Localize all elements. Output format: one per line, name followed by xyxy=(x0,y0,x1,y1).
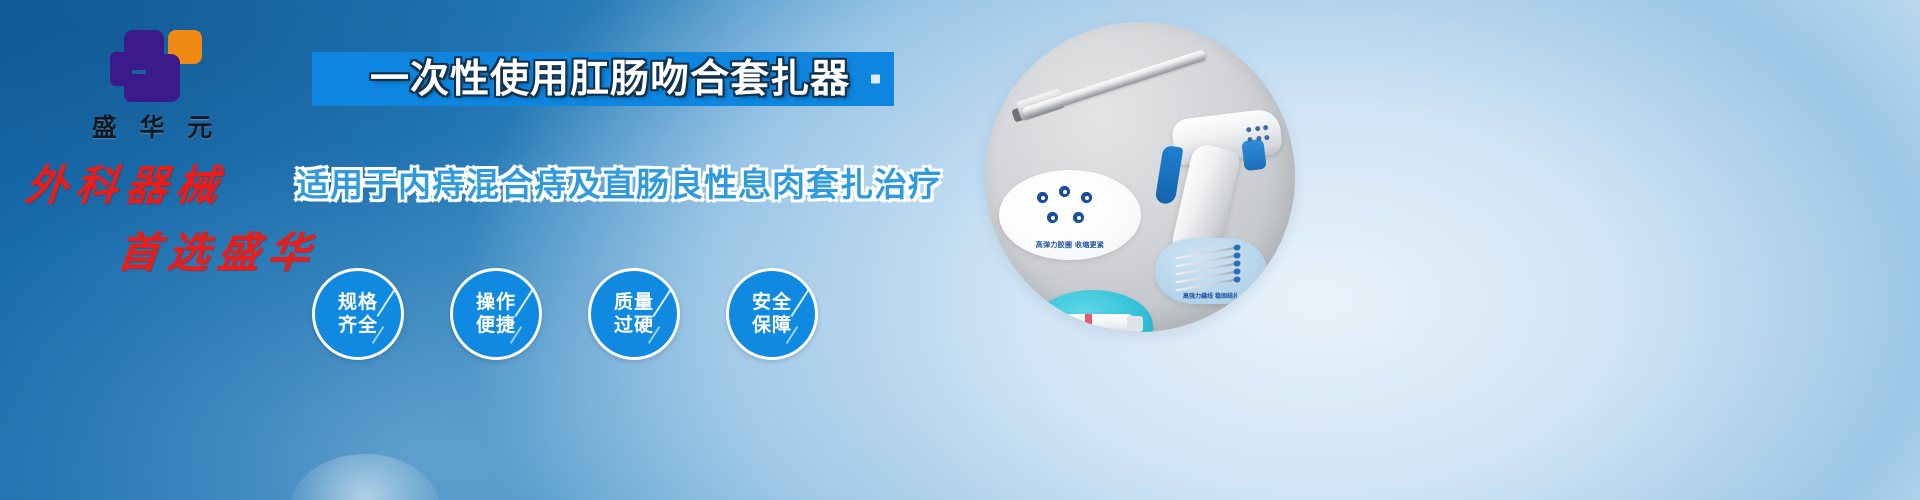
feature-badge-1[interactable]: 规格 齐全 xyxy=(312,268,404,360)
feature-badge-4[interactable]: 安全 保障 xyxy=(726,268,818,360)
feature-badge-2-line1: 操作 xyxy=(476,291,516,314)
product-photo: 高弹力胶圈 收缩更紧 高强力缝线 稳固结扎 xyxy=(985,22,1295,332)
elastic-ring-icon xyxy=(1059,186,1070,197)
inset-elastic-rings: 高弹力胶圈 收缩更紧 xyxy=(999,170,1141,260)
feature-badge-4-line2: 保障 xyxy=(752,314,792,337)
tube-tip-icon xyxy=(1127,316,1143,332)
tube-body-icon xyxy=(1055,314,1133,332)
feature-badge-1-line2: 齐全 xyxy=(338,314,378,337)
elastic-ring-icon xyxy=(1037,192,1048,203)
inset-rings-caption: 高弹力胶圈 收缩更紧 xyxy=(999,240,1141,250)
slash-decoration-icon xyxy=(376,289,395,317)
inset-needles-caption: 高强力缝线 稳固结扎 xyxy=(1155,291,1267,300)
background-orb xyxy=(290,454,440,500)
device-shaft-icon xyxy=(1021,49,1207,119)
inset-disposable-tube xyxy=(1033,290,1153,332)
page-subtitle: 适用于内痔混合痔及直肠良性息肉套扎治疗 xyxy=(296,158,896,206)
slash-decoration-icon xyxy=(514,289,533,317)
feature-badge-3[interactable]: 质量 过硬 xyxy=(588,268,680,360)
feature-badge-1-line1: 规格 xyxy=(338,291,378,314)
feature-badge-3-line2: 过硬 xyxy=(614,314,654,337)
feature-badge-2-line2: 便捷 xyxy=(476,314,516,337)
logo-blocks-icon xyxy=(102,26,202,104)
feature-badges: 规格 齐全 操作 便捷 质量 过硬 安全 保障 xyxy=(312,268,818,360)
brand-logo[interactable]: 盛 华 元 xyxy=(62,26,242,144)
device-vent-dots-icon xyxy=(1246,125,1272,146)
tube-band-icon xyxy=(1085,314,1092,332)
feature-badge-2[interactable]: 操作 便捷 xyxy=(450,268,542,360)
device-trigger-icon xyxy=(1155,145,1184,205)
slash-decoration-icon xyxy=(790,289,809,317)
slash-decoration-icon xyxy=(652,289,671,317)
promo-banner: 盛 华 元 外科器械 首选盛华 一次性使用肛肠吻合套扎器 适用于内痔混合痔及直肠… xyxy=(0,0,1920,500)
elastic-ring-icon xyxy=(1081,192,1092,203)
elastic-ring-icon xyxy=(1073,212,1084,223)
page-title: 一次性使用肛肠吻合套扎器 xyxy=(330,55,890,105)
feature-badge-3-line1: 质量 xyxy=(614,291,654,314)
elastic-ring-icon xyxy=(1047,212,1058,223)
logo-wordmark: 盛 华 元 xyxy=(62,108,242,144)
feature-badge-4-line1: 安全 xyxy=(752,291,792,314)
inset-suture-needles: 高强力缝线 稳固结扎 xyxy=(1155,238,1267,304)
